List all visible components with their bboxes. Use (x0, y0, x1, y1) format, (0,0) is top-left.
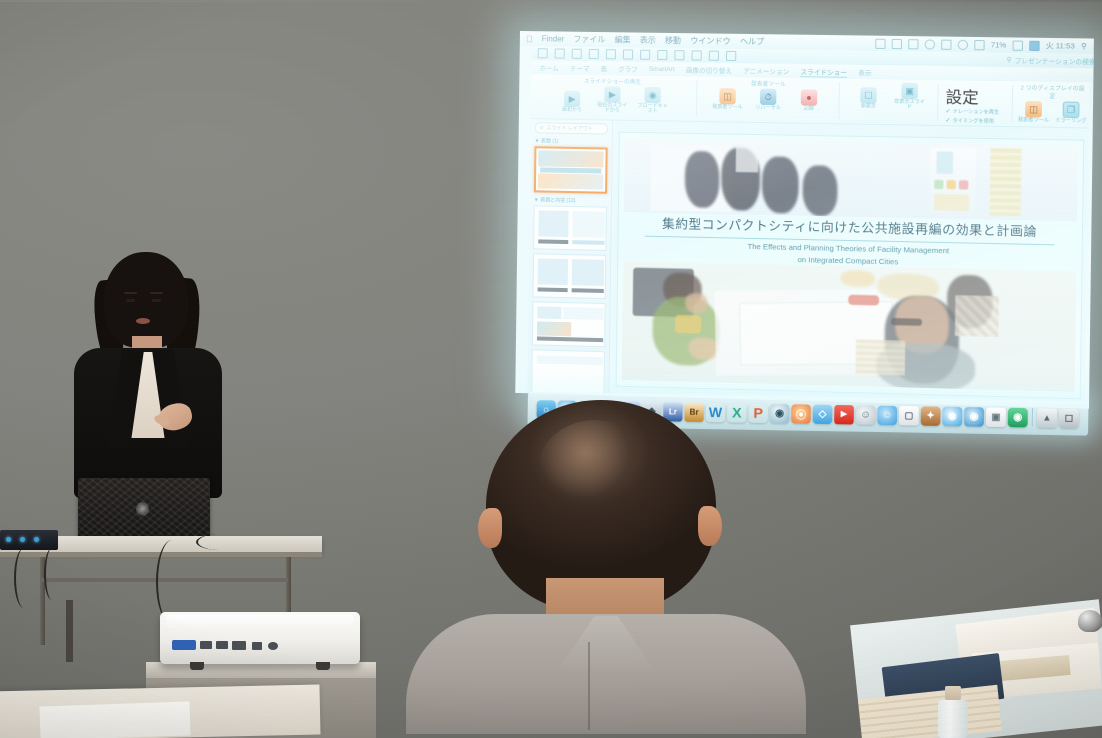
menu-item-edit[interactable]: 編集 (614, 34, 630, 45)
slide-top-photo (624, 137, 1078, 220)
input-source-icon[interactable] (1029, 40, 1040, 50)
monitor-icon[interactable] (875, 38, 885, 48)
ribbon-button-rehearse[interactable]: ⏱ リハーサル (751, 89, 786, 112)
projector-port (252, 642, 262, 650)
tab-home[interactable]: ホーム (539, 62, 558, 72)
ribbon-group-dual-display: 2 つのディスプレイの設定 ◫ 発表者ツール ❐ ミラーリング (1018, 83, 1087, 124)
record-icon: ● (801, 89, 818, 105)
tab-view[interactable]: 表示 (858, 67, 871, 77)
menu-item-view[interactable]: 表示 (640, 35, 656, 46)
slide-layout-panel[interactable]: ⚲ スライド レイアウト ▼ 表題 (1) ▼ 表題と内容 (13) (527, 119, 613, 396)
projector-port (216, 641, 228, 649)
tab-themes[interactable]: テーマ (570, 63, 590, 73)
spotlight-search-icon[interactable]: ⚲ (1081, 41, 1087, 50)
presenter-eye-left (126, 299, 135, 302)
redo-icon[interactable] (692, 50, 702, 60)
ribbon-button-record[interactable]: ● 記録 (791, 89, 826, 112)
layout-search-input[interactable]: ⚲ スライド レイアウト (535, 122, 608, 134)
format-painter-icon[interactable] (657, 50, 667, 60)
menu-item-finder[interactable]: Finder (542, 34, 565, 43)
edit-icon[interactable] (974, 40, 984, 50)
undo-icon[interactable] (674, 50, 684, 60)
audience-suit-seam (588, 642, 590, 730)
volume-icon[interactable] (941, 39, 951, 49)
ribbon-button-mirroring[interactable]: ❐ ミラーリング (1055, 101, 1087, 124)
bluetooth-icon[interactable] (908, 39, 918, 49)
power-led-icon (34, 537, 39, 542)
menu-item-window[interactable]: ウインドウ (690, 35, 731, 47)
rehearse-icon: ⏱ (760, 89, 777, 105)
battery-icon[interactable] (1013, 40, 1024, 50)
projector (160, 612, 360, 664)
ribbon-button-dual-presenter[interactable]: ◫ 発表者ツール (1018, 101, 1049, 124)
ribbon-group-hide: ☐ 非表示 ▣ 非表示スライド (845, 81, 934, 111)
ribbon-button-presenter-tools[interactable]: ◫ 発表者ツール (710, 88, 745, 111)
trash-icon[interactable]: ◻ (1059, 408, 1079, 428)
copy-icon[interactable] (623, 49, 633, 59)
dock-divider (1032, 408, 1033, 426)
cable (196, 534, 242, 550)
apple-menu-icon[interactable]:  (526, 34, 533, 44)
slide-canvas[interactable]: 集約型コンパクトシティに向けた公共施設再編の効果と計画論 The Effects… (611, 121, 1088, 409)
ribbon-button-play-current[interactable]: ▶ 現在のスライドから (595, 86, 630, 114)
mirroring-icon: ❐ (1063, 101, 1080, 118)
screen-share-icon[interactable] (892, 38, 902, 48)
screenshot-scene:  Finder ファイル 編集 表示 移動 ウインドウ ヘルプ 71% 火 1… (0, 0, 1102, 738)
menu-bar-status-area: 71% 火 11:53 ⚲ ☰ (875, 38, 1094, 52)
water-bottle (938, 686, 968, 738)
service-bell (1078, 610, 1102, 632)
presenter-laptop (78, 478, 210, 540)
skype-icon[interactable]: ☺ (856, 405, 876, 425)
paste-icon[interactable] (640, 50, 650, 60)
hidden-slide-icon: ▣ (901, 83, 918, 99)
battery-percent[interactable]: 71% (991, 40, 1007, 49)
firefox-icon[interactable]: ⦿ (791, 404, 811, 424)
ribbon-button-hidden-slides[interactable]: ▣ 非表示スライド (892, 83, 927, 111)
broadcast-icon: ◉ (644, 87, 660, 103)
slide-bottom-photo (622, 261, 1076, 392)
ribbon-separator (838, 83, 840, 119)
checkmark-icon: ✓ (945, 117, 950, 126)
ribbon-button-broadcast[interactable]: ◉ ブロードキャスト (635, 87, 670, 115)
quicktime-icon[interactable]: ◉ (770, 403, 790, 423)
open-icon[interactable] (555, 48, 565, 58)
save-icon[interactable] (572, 49, 582, 59)
layout-search-placeholder: スライド レイアウト (546, 124, 593, 132)
search-icon: ⚲ (1007, 56, 1012, 64)
layout-thumbnail[interactable] (531, 349, 605, 395)
slide-1[interactable]: 集約型コンパクトシティに向けた公共施設再編の効果と計画論 The Effects… (617, 132, 1084, 398)
zoom-control-icon[interactable] (726, 51, 736, 61)
projector-foot (190, 662, 204, 670)
cable (14, 548, 34, 608)
tab-charts[interactable]: グラフ (618, 63, 638, 73)
ribbon-button-hide-slide[interactable]: ☐ 非表示 (851, 87, 886, 110)
ribbon-group-title: 設定 (946, 83, 1022, 109)
projector-foot (316, 662, 330, 670)
bottle-cap (945, 686, 961, 700)
tab-transitions[interactable]: 画像の切り替え (686, 64, 732, 75)
menu-bar-clock[interactable]: 火 11:53 (1046, 40, 1075, 52)
layout-thumbnail[interactable] (533, 253, 607, 299)
power-strip (0, 530, 58, 550)
tab-tables[interactable]: 表 (600, 63, 607, 73)
projector-top-panel (166, 615, 354, 629)
wall-seam (0, 0, 1102, 2)
layout-section-title[interactable]: ▼ 表題 (1) (535, 137, 608, 145)
slide-subtitle-line1: The Effects and Planning Theories of Fac… (747, 242, 949, 256)
messages-icon[interactable]: ☺ (877, 405, 897, 425)
ribbon-group-title: 2 つのディスプレイの設定 (1018, 83, 1087, 100)
audience-hair-part (536, 420, 654, 528)
preview-icon[interactable]: ▣ (986, 407, 1006, 427)
apple-logo-icon (136, 502, 149, 517)
textedit-icon[interactable]: ▢ (899, 405, 919, 425)
chair-leg (66, 600, 73, 662)
presenter-hair (104, 252, 188, 348)
presenter-eye-right (152, 299, 161, 302)
projected-screen:  Finder ファイル 編集 表示 移動 ウインドウ ヘルプ 71% 火 1… (515, 31, 1094, 409)
slideshow-icon[interactable] (709, 51, 719, 61)
downloads-stack-icon[interactable]: ▲ (1037, 408, 1057, 428)
notification-center-icon[interactable]: ☰ (1093, 42, 1094, 51)
presentation-search-box[interactable]: ⚲ プレゼンテーションの検索 (1006, 55, 1093, 66)
play-from-start-icon: ▶ (564, 91, 580, 107)
search-icon: ⚲ (540, 125, 544, 131)
menu-item-file[interactable]: ファイル (573, 34, 605, 45)
menu-item-go[interactable]: 移動 (665, 35, 681, 46)
projector-vga-port (172, 640, 196, 650)
dual-display-presenter-icon: ◫ (1025, 101, 1042, 118)
checkmark-icon: ✓ (945, 108, 950, 117)
play-current-icon: ▶ (604, 86, 620, 102)
presenter-person (62, 252, 232, 502)
dropbox-icon[interactable]: ◇ (813, 404, 833, 424)
gimp-icon[interactable]: ✦ (921, 406, 941, 426)
layout-thumbnail[interactable] (533, 205, 607, 251)
ribbon-separator (937, 84, 939, 121)
presenter-brow-left (124, 292, 137, 294)
ribbon-separator (696, 81, 697, 117)
projector-port (268, 642, 278, 650)
clock-icon[interactable] (925, 39, 935, 49)
acrobat-reader-icon[interactable]: ► (834, 404, 854, 424)
ribbon-button-play-from-start[interactable]: ▶ 最初から (555, 91, 589, 114)
bottle-body (938, 700, 968, 738)
tab-slideshow[interactable]: スライドショー (800, 66, 847, 78)
menu-item-help[interactable]: ヘルプ (740, 36, 765, 47)
chrome-icon[interactable]: ◉ (942, 406, 962, 426)
audience-person (440, 390, 770, 738)
foreground-paper (39, 701, 190, 738)
projector-port (200, 641, 212, 649)
power-led-icon (20, 537, 25, 542)
presenter-brow-right (150, 292, 163, 294)
audience-ear-left (478, 508, 502, 548)
layout-thumbnail[interactable] (532, 301, 606, 347)
cable (44, 548, 60, 600)
cut-icon[interactable] (606, 49, 616, 59)
hide-slide-icon: ☐ (860, 87, 877, 103)
tab-smartart[interactable]: SmartArt (649, 65, 675, 72)
ribbon-group-play-slideshow: スライドショーの再生 ▶ 最初から ▶ 現在のスライドから ◉ ブロードキャスト (537, 76, 688, 115)
power-led-icon (6, 537, 11, 542)
presenter-tools-icon: ◫ (719, 88, 735, 104)
audience-ear-right (698, 506, 722, 546)
print-icon[interactable] (589, 49, 599, 59)
evernote-icon[interactable]: ◉ (1008, 407, 1028, 427)
opera-icon[interactable]: ◉ (964, 407, 984, 427)
new-document-icon[interactable] (538, 48, 548, 58)
search-placeholder: プレゼンテーションの検索 (1015, 55, 1094, 66)
ribbon-group-presenter-tools: 発表者ツール ◫ 発表者ツール ⏱ リハーサル ● 記録 (704, 79, 833, 113)
presenter-mouth (136, 318, 150, 324)
heart-icon[interactable] (958, 39, 968, 49)
layout-section-title[interactable]: ▼ 表題と内容 (13) (534, 196, 607, 204)
tab-animations[interactable]: アニメーション (743, 65, 789, 76)
layout-thumbnail-title-slide[interactable] (534, 146, 608, 193)
projector-stand-top (146, 662, 376, 678)
projector-port (232, 641, 246, 650)
